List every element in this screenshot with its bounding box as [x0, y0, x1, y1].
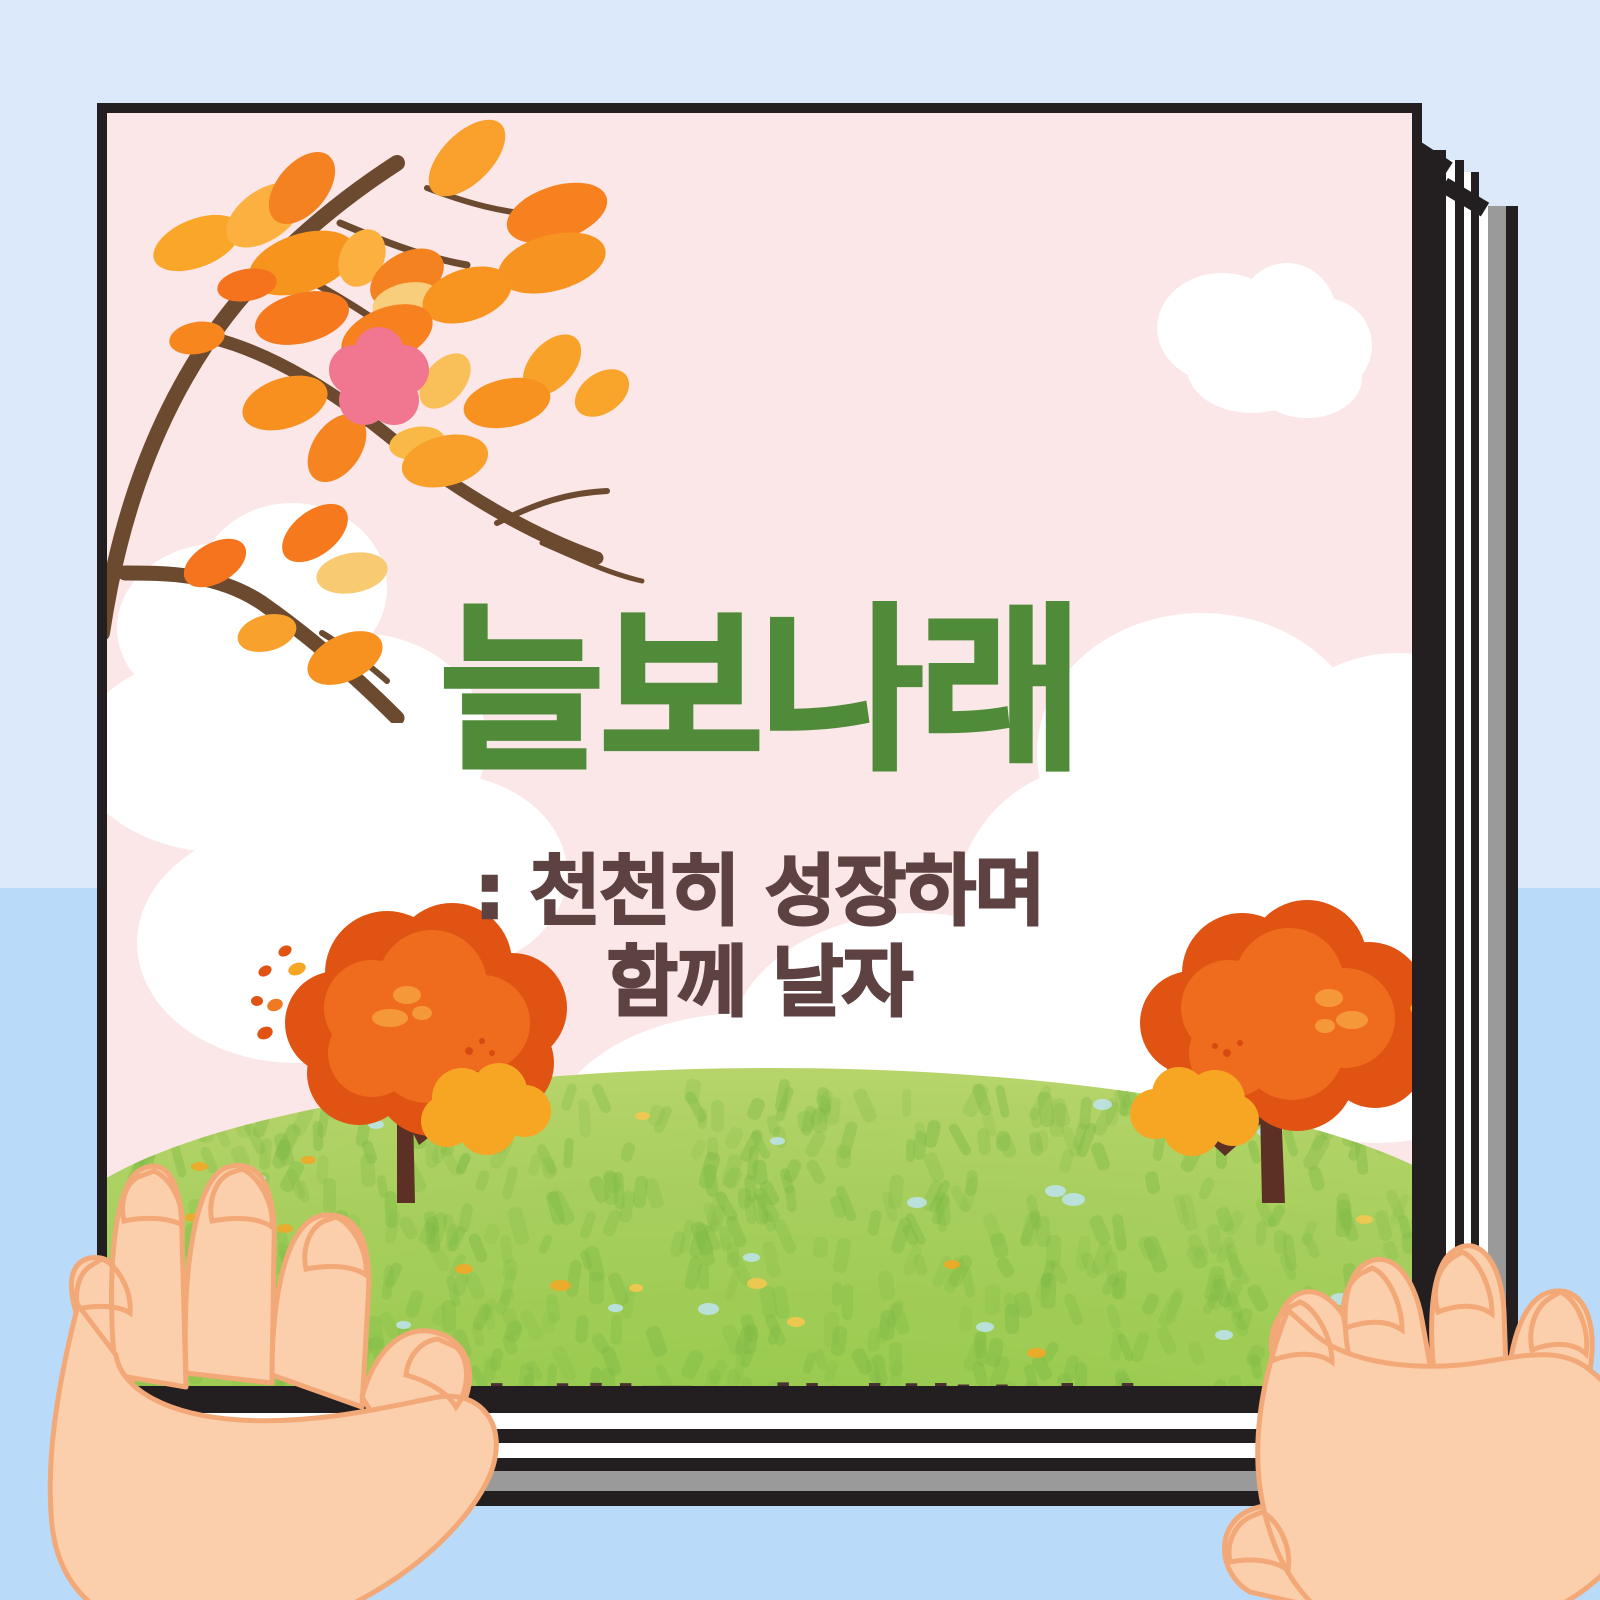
right-hand-holding-book[interactable] [1160, 1180, 1600, 1600]
page-title: 늘보나래 [107, 603, 1412, 781]
page-subtitle: : 천천히 성장하며 함께 날자 [107, 848, 1412, 1030]
subtitle-line-2: 함께 날자 [107, 939, 1412, 1030]
poster-canvas: 늘보나래 : 천천히 성장하며 함께 날자 고양시흰돌종합사회복지관 [0, 0, 1600, 1600]
left-hand-holding-book[interactable] [0, 1125, 550, 1600]
subtitle-line-1: : 천천히 성장하며 [107, 848, 1412, 939]
